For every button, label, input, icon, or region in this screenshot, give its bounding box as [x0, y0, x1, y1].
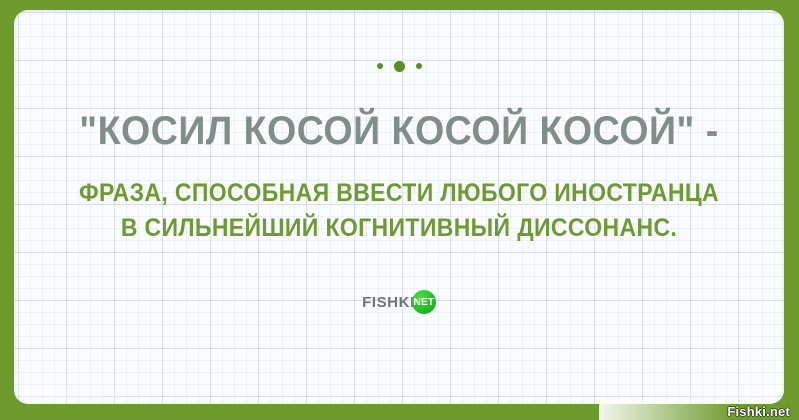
logo-net-badge-icon: NET: [412, 290, 436, 314]
quote-main-line: "КОСИЛ КОСОЙ КОСОЙ КОСОЙ" -: [37, 108, 761, 154]
dot-right-icon: [416, 63, 422, 69]
quote-sub-line-2: В СИЛЬНЕЙШИЙ КОГНИТИВНЫЙ ДИССОНАНС.: [45, 211, 753, 246]
site-watermark: Fishki.net: [727, 404, 790, 419]
fishki-logo[interactable]: FISHKI NET: [362, 290, 436, 314]
quote-card: "КОСИЛ КОСОЙ КОСОЙ КОСОЙ" - ФРАЗА, СПОСО…: [0, 0, 799, 420]
quote-sub-line-1: ФРАЗА, СПОСОБНАЯ ВВЕСТИ ЛЮБОГО ИНОСТРАНЦ…: [45, 176, 753, 211]
quote-block: "КОСИЛ КОСОЙ КОСОЙ КОСОЙ" - ФРАЗА, СПОСО…: [14, 108, 784, 246]
logo-wordmark: FISHKI: [362, 294, 415, 311]
logo-badge-label: NET: [413, 297, 434, 308]
dot-center-icon: [394, 61, 405, 72]
dot-left-icon: [377, 63, 383, 69]
decorative-dots: [377, 60, 422, 72]
paper-surface: "КОСИЛ КОСОЙ КОСОЙ КОСОЙ" - ФРАЗА, СПОСО…: [14, 10, 784, 404]
